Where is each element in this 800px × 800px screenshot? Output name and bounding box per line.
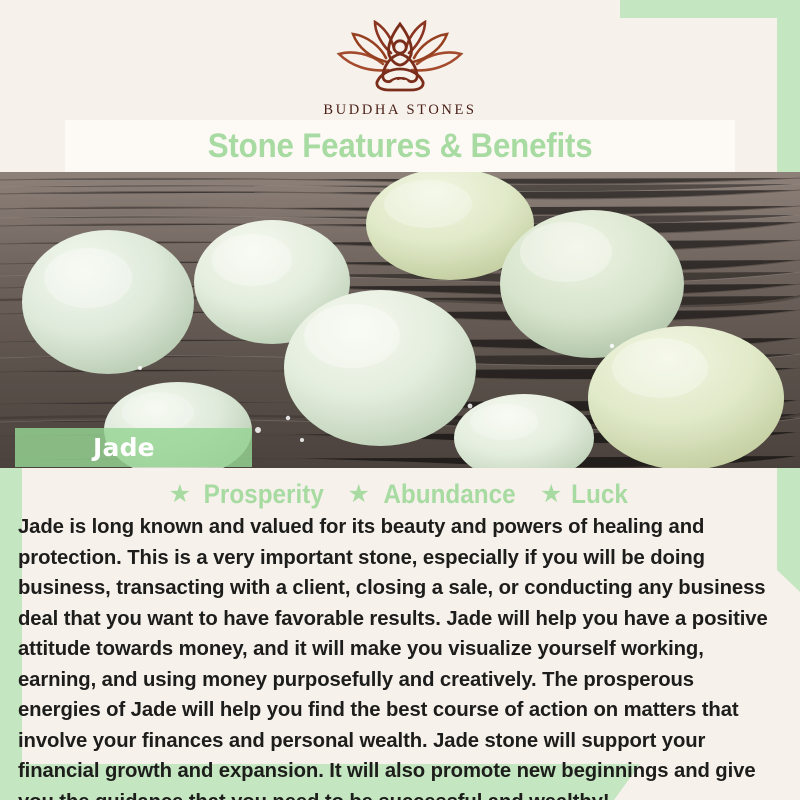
stone-name-label: Jade bbox=[15, 433, 155, 462]
brand-logo-block: BUDDHA STONES bbox=[0, 0, 800, 120]
benefit-label: Abundance bbox=[383, 479, 515, 510]
stone-feature-card: BUDDHA STONES Stone Features & Benefits bbox=[0, 0, 800, 800]
benefits-row: ★ Prosperity ★ Abundance ★ Luck bbox=[0, 477, 800, 511]
description-block: Jade is long known and valued for its be… bbox=[18, 512, 788, 800]
brand-wordmark: BUDDHA STONES bbox=[323, 102, 476, 119]
star-icon: ★ bbox=[348, 482, 370, 507]
star-icon: ★ bbox=[169, 482, 191, 507]
star-icon: ★ bbox=[540, 482, 562, 507]
benefit-label: Prosperity bbox=[204, 479, 324, 510]
benefit-item-abundance: ★ Abundance bbox=[348, 479, 523, 510]
benefit-label: Luck bbox=[572, 479, 629, 510]
lotus-meditation-icon bbox=[325, 20, 475, 97]
benefit-item-prosperity: ★ Prosperity bbox=[169, 479, 331, 510]
description-paragraph: Jade is long known and valued for its be… bbox=[18, 512, 776, 800]
stone-name-band: Jade bbox=[15, 428, 252, 467]
page-title: Stone Features & Benefits bbox=[208, 127, 593, 166]
benefit-item-luck: ★ Luck bbox=[540, 479, 631, 510]
title-banner: Stone Features & Benefits bbox=[65, 120, 735, 172]
stone-photo bbox=[0, 172, 800, 468]
